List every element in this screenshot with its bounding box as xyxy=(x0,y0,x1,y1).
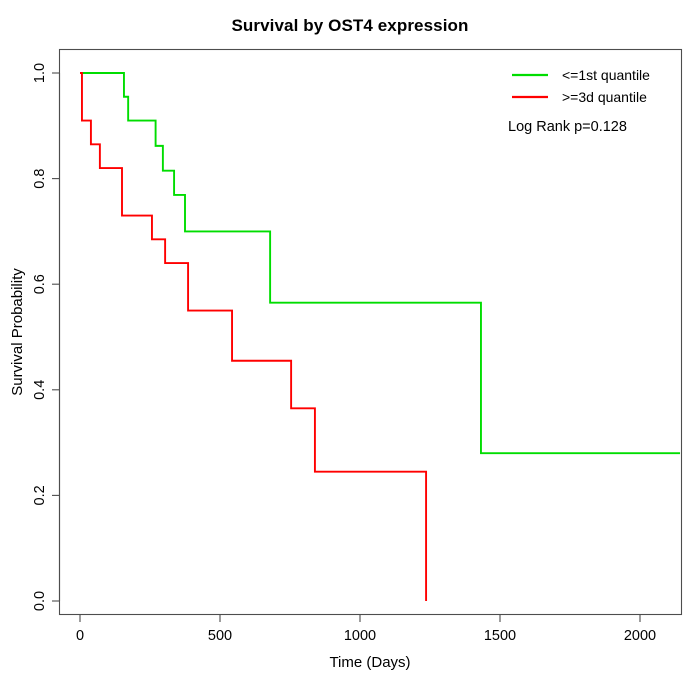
y-axis-title: Survival Probability xyxy=(9,268,26,396)
y-tick-label: 1.0 xyxy=(32,63,48,83)
log-rank-pvalue-label: Log Rank p=0.128 xyxy=(508,119,627,135)
survival-plot-figure: Survival by OST4 expression 0.00.20.40.6… xyxy=(0,0,700,700)
x-axis-title: Time (Days) xyxy=(329,654,410,671)
y-tick-label: 0.4 xyxy=(32,380,48,400)
x-tick-label: 500 xyxy=(208,628,232,644)
y-tick-label: 0.8 xyxy=(32,169,48,189)
survival-curves xyxy=(80,73,680,601)
x-tick-label: 1500 xyxy=(484,628,516,644)
x-tick-label: 0 xyxy=(76,628,84,644)
survival-curve-series-1 xyxy=(80,73,426,601)
x-tick-label: 2000 xyxy=(624,628,656,644)
x-tick-label: 1000 xyxy=(344,628,376,644)
chart-legend: <=1st quantile>=3d quantile xyxy=(512,67,650,105)
y-axis: 0.00.20.40.60.81.0 xyxy=(32,63,60,611)
chart-canvas: 0.00.20.40.60.81.0 0500100015002000 Surv… xyxy=(0,0,700,700)
legend-label-0: <=1st quantile xyxy=(562,67,650,83)
y-tick-label: 0.6 xyxy=(32,274,48,294)
y-tick-label: 0.0 xyxy=(32,591,48,611)
legend-label-1: >=3d quantile xyxy=(562,89,647,105)
y-tick-label: 0.2 xyxy=(32,485,48,505)
x-axis: 0500100015002000 xyxy=(76,615,656,645)
